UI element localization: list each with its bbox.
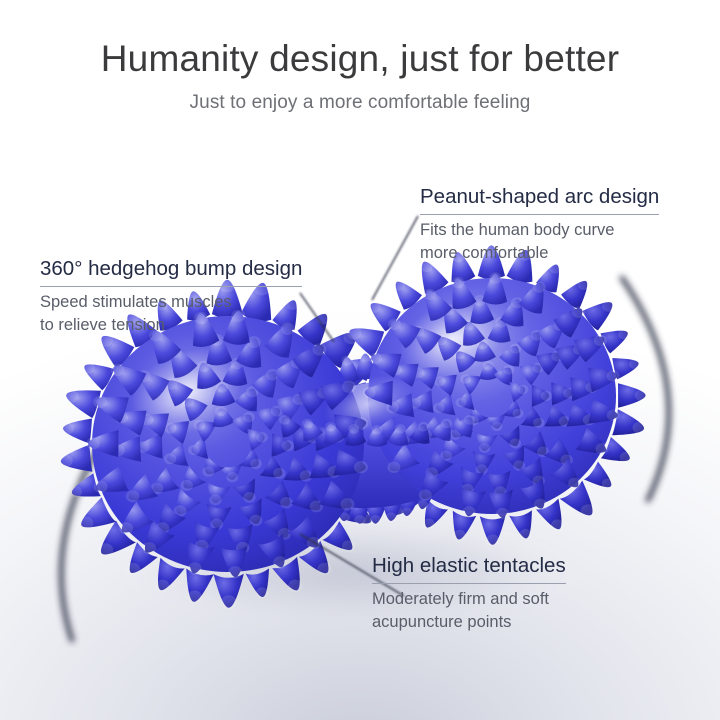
page-title: Humanity design, just for better: [0, 38, 720, 81]
header-block: Humanity design, just for better Just to…: [0, 38, 720, 114]
leader-line-arc: [372, 216, 418, 300]
product-feature-graphic: Peanut-shaped arc design Fits the human …: [0, 0, 720, 720]
callout-body-line-1: Speed stimulates muscles: [40, 291, 302, 314]
callout-body-line-1: Fits the human body curve: [420, 219, 659, 242]
callout-hedgehog-bump: 360° hedgehog bump design Speed stimulat…: [40, 256, 302, 337]
callout-high-elastic-tentacles: High elastic tentacles Moderately firm a…: [372, 553, 566, 634]
callout-body-line-2: to relieve tension: [40, 314, 302, 337]
callout-rule: [372, 583, 566, 584]
callout-body-line-2: more comfortable: [420, 242, 659, 265]
callout-body-line-2: acupuncture points: [372, 611, 566, 634]
callout-heading: High elastic tentacles: [372, 553, 566, 583]
callout-rule: [40, 286, 302, 287]
callout-rule: [420, 214, 659, 215]
callout-heading: Peanut-shaped arc design: [420, 184, 659, 214]
page-subtitle: Just to enjoy a more comfortable feeling: [0, 92, 720, 114]
callout-peanut-arc: Peanut-shaped arc design Fits the human …: [420, 184, 659, 265]
callout-body-line-1: Moderately firm and soft: [372, 588, 566, 611]
leader-line-bump: [300, 293, 334, 342]
callout-heading: 360° hedgehog bump design: [40, 256, 302, 286]
